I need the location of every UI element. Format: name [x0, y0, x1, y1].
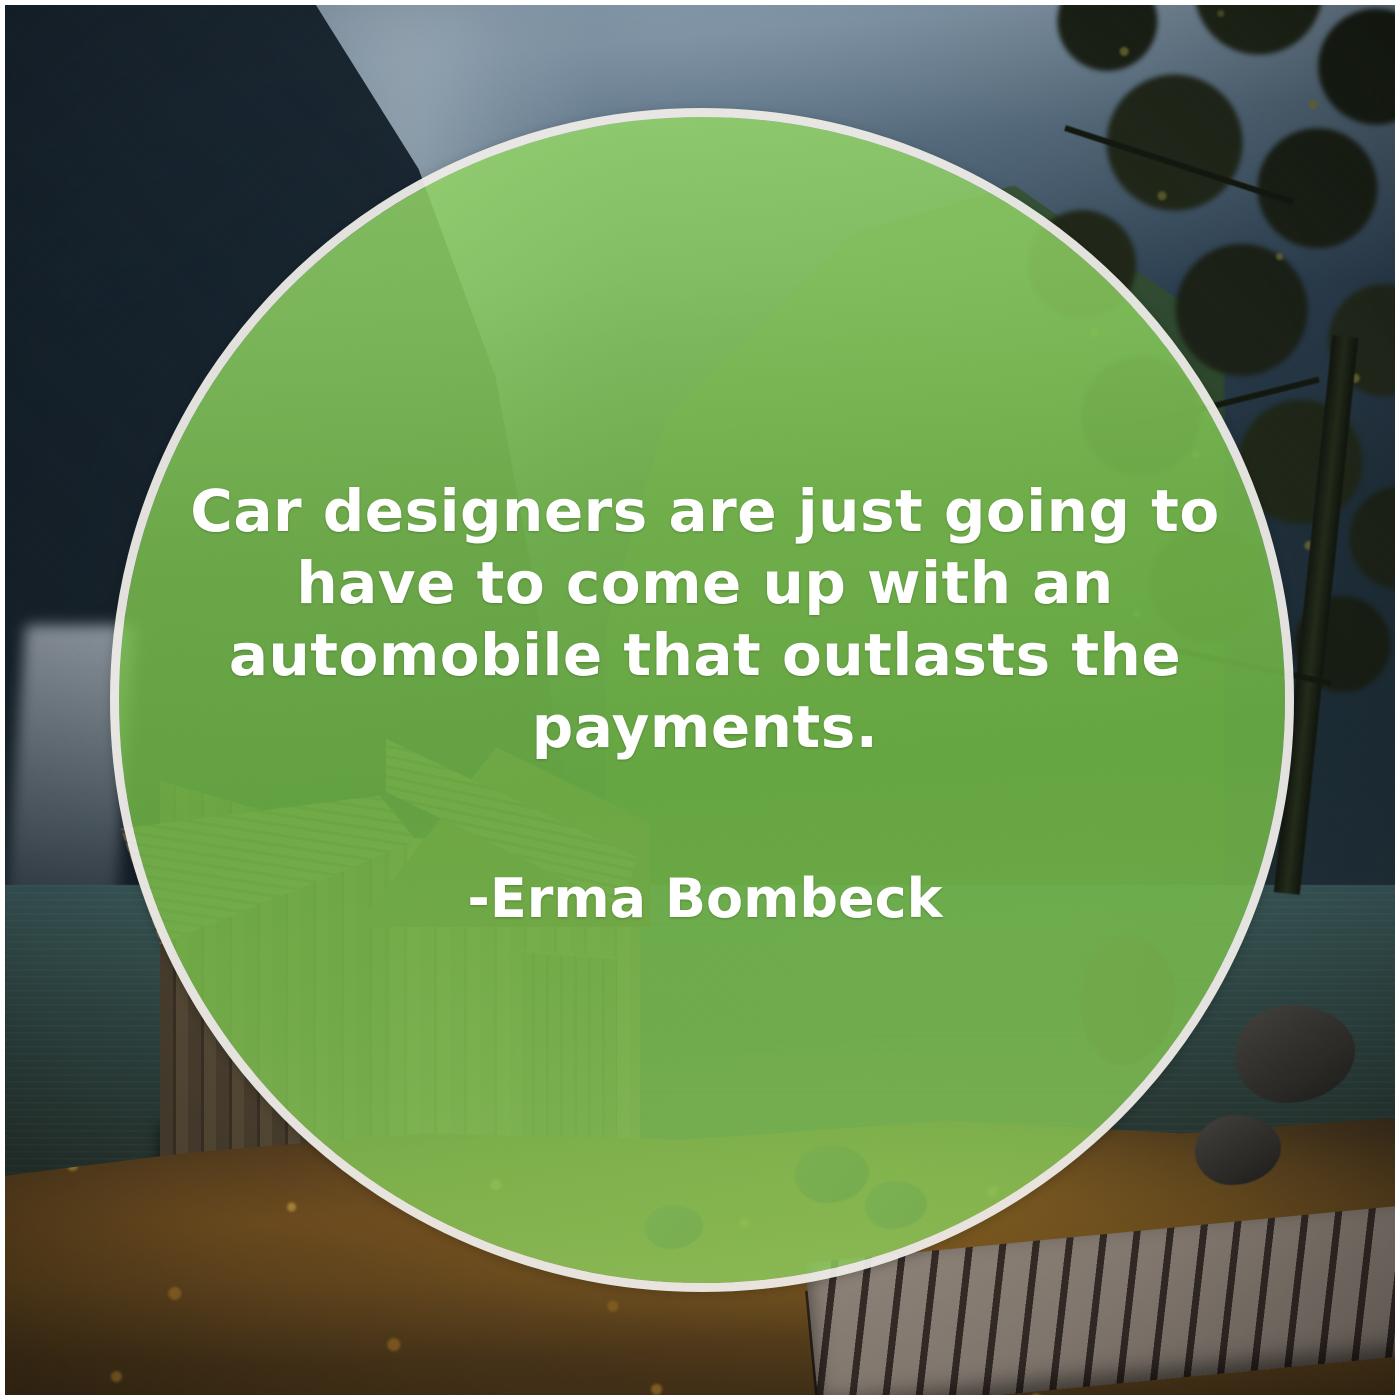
quote-card: Car designers are just going to have to …	[0, 0, 1400, 1400]
circle-border-ring	[110, 108, 1294, 1292]
quote-attribution: -Erma Bombeck	[175, 867, 1235, 931]
